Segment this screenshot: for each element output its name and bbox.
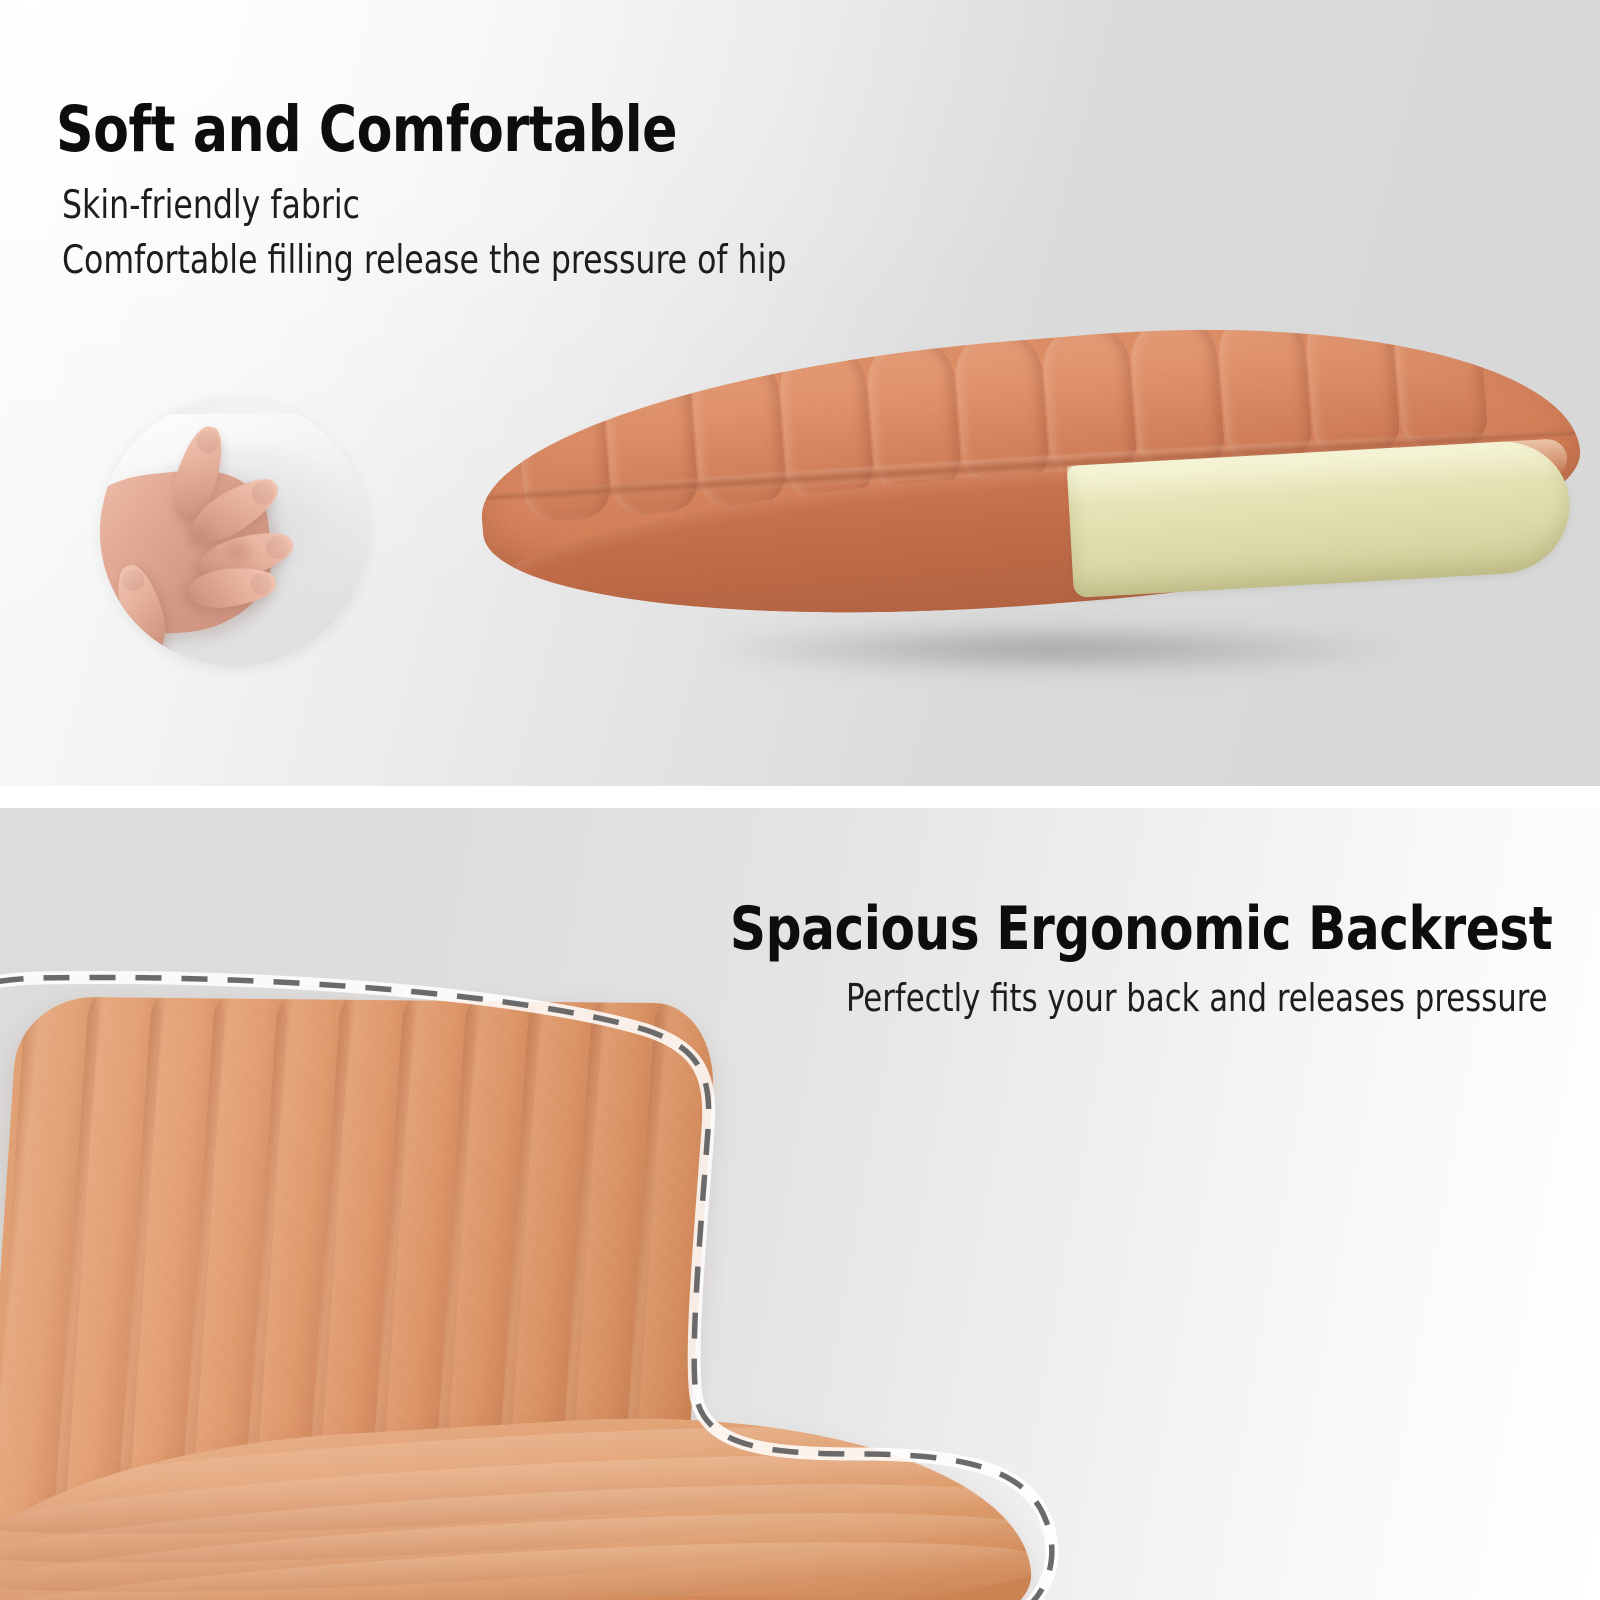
top-feature-panel: Soft and Comfortable Skin-friendly fabri… (0, 0, 1600, 786)
cushion-drop-shadow (710, 626, 1400, 672)
fingernail (249, 572, 273, 596)
top-section-subtitle-2: Comfortable filling release the pressure… (62, 238, 786, 283)
cushion-channel (1391, 296, 1489, 453)
cushion-channel (1304, 300, 1402, 460)
top-section-title: Soft and Comfortable (56, 93, 677, 166)
foam-cutaway (1067, 438, 1574, 598)
cushion-channel (514, 364, 612, 524)
bottom-section-title: Spacious Ergonomic Backrest (730, 894, 1552, 964)
fingernail (193, 427, 222, 456)
hand-on-foam-inset (100, 398, 368, 666)
seat-cushion-illustration (470, 330, 1590, 710)
chair-illustration (0, 958, 1100, 1600)
bottom-feature-panel: Spacious Ergonomic Backrest Perfectly fi… (0, 808, 1600, 1600)
seat-cushion (470, 330, 1590, 630)
section-divider (0, 786, 1600, 808)
hand-knuckle (218, 537, 258, 566)
top-section-subtitle-1: Skin-friendly fabric (62, 183, 360, 228)
infographic-page: Soft and Comfortable Skin-friendly fabri… (0, 0, 1600, 1600)
